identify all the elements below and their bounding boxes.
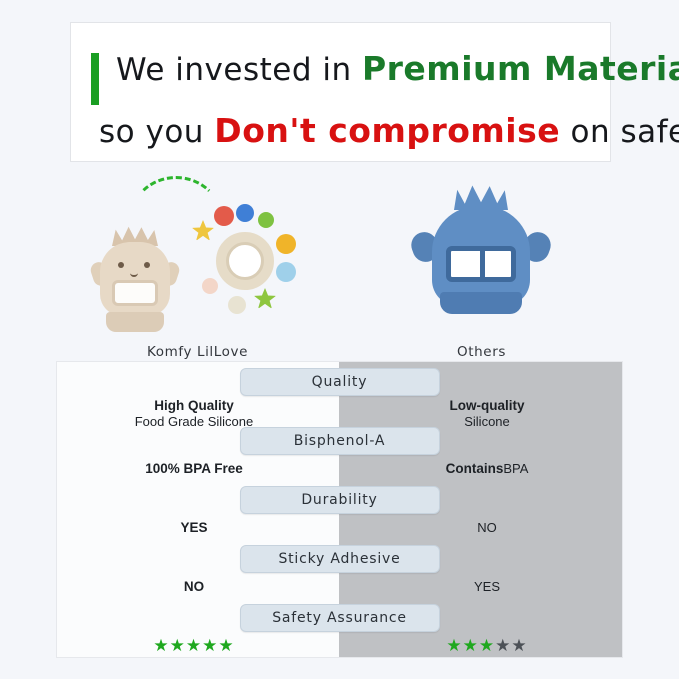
rattle-bead-orange	[276, 234, 296, 254]
headline-line-1: We invested in Premium Materials	[116, 49, 679, 88]
headline-highlight-dont-compromise: Don't compromise	[214, 111, 560, 150]
feature-label-sticky-adhesive: Sticky Adhesive	[240, 545, 440, 573]
product-comparison-infographic: We invested in Premium Materials so you …	[0, 0, 679, 679]
rating-stars-right: ★★★★★	[372, 636, 602, 656]
headline-line-2: so you Don't compromise on safety	[99, 111, 679, 150]
headline-line-2-post: on safety	[560, 114, 679, 150]
blue-teething-mitten-image	[412, 184, 550, 324]
table-row: Bisphenol-A 100% BPA Free ContainsBPA	[57, 425, 622, 484]
rattle-bead-star-green	[254, 288, 276, 310]
star-filled-icon: ★	[446, 636, 462, 655]
headline-banner: We invested in Premium Materials so you …	[70, 22, 611, 162]
product-left: Komfy LilLove	[56, 170, 339, 360]
star-empty-icon: ★	[511, 636, 527, 655]
cell-right-quality-main: Low-quality	[450, 398, 525, 413]
product-images: Komfy LilLove Others	[56, 170, 623, 360]
table-row: Durability YES NO	[57, 484, 622, 543]
cell-left-quality-main: High Quality	[154, 398, 234, 413]
star-filled-icon: ★	[479, 636, 495, 655]
rattle-bead-star-yellow	[192, 220, 214, 242]
feature-label-bisphenol-a: Bisphenol-A	[240, 427, 440, 455]
rattle-bead-green	[258, 212, 274, 228]
product-right-label: Others	[340, 344, 623, 360]
product-left-label: Komfy LilLove	[56, 344, 339, 360]
table-row: Sticky Adhesive NO YES	[57, 543, 622, 602]
headline-line-2-pre: so you	[99, 114, 214, 150]
rattle-ring-inner	[226, 242, 264, 280]
mitten-eye-right	[144, 262, 150, 268]
blue-mitten-opening-divider	[480, 248, 485, 280]
rattle-bead-blue	[236, 204, 254, 222]
table-row: Safety Assurance ★★★★★ ★★★★★	[57, 602, 622, 661]
feature-label-quality: Quality	[240, 368, 440, 396]
green-accent-bar	[91, 53, 99, 105]
mitten-cuff	[106, 312, 164, 332]
rattle-bead-cream	[228, 296, 246, 314]
mitten-eye-left	[118, 262, 124, 268]
star-filled-icon: ★	[202, 636, 218, 655]
product-right: Others	[340, 170, 623, 360]
comparison-table: Quality High Quality Food Grade Silicone…	[56, 361, 623, 658]
headline-highlight-premium-materials: Premium Materials	[362, 49, 679, 88]
headline-line-1-text: We invested in	[116, 52, 362, 88]
rating-stars-left: ★★★★★	[79, 636, 309, 656]
star-filled-icon: ★	[463, 636, 479, 655]
cell-left-durability: YES	[79, 520, 309, 536]
cell-right-bpa: ContainsBPA	[372, 461, 602, 477]
cell-right-bpa-main: Contains	[446, 461, 504, 476]
star-filled-icon: ★	[186, 636, 202, 655]
cell-right-bpa-sub: BPA	[503, 461, 528, 476]
star-filled-icon: ★	[218, 636, 234, 655]
star-filled-icon: ★	[170, 636, 186, 655]
table-row: Quality High Quality Food Grade Silicone…	[57, 366, 622, 425]
cell-right-sticky: YES	[372, 579, 602, 595]
star-filled-icon: ★	[153, 636, 169, 655]
star-empty-icon: ★	[495, 636, 511, 655]
blue-mitten-cuff	[440, 292, 522, 314]
rattle-bead-pink	[202, 278, 218, 294]
mitten-hand-opening	[112, 280, 158, 306]
cell-right-durability: NO	[372, 520, 602, 536]
rattle-ring-toy-image	[188, 204, 300, 320]
feature-label-safety-assurance: Safety Assurance	[240, 604, 440, 632]
beige-teething-mitten-image	[92, 226, 178, 336]
cell-left-sticky: NO	[79, 579, 309, 595]
rattle-bead-lightblue	[276, 262, 296, 282]
cell-left-bpa: 100% BPA Free	[79, 461, 309, 477]
rattle-bead-red	[214, 206, 234, 226]
feature-label-durability: Durability	[240, 486, 440, 514]
